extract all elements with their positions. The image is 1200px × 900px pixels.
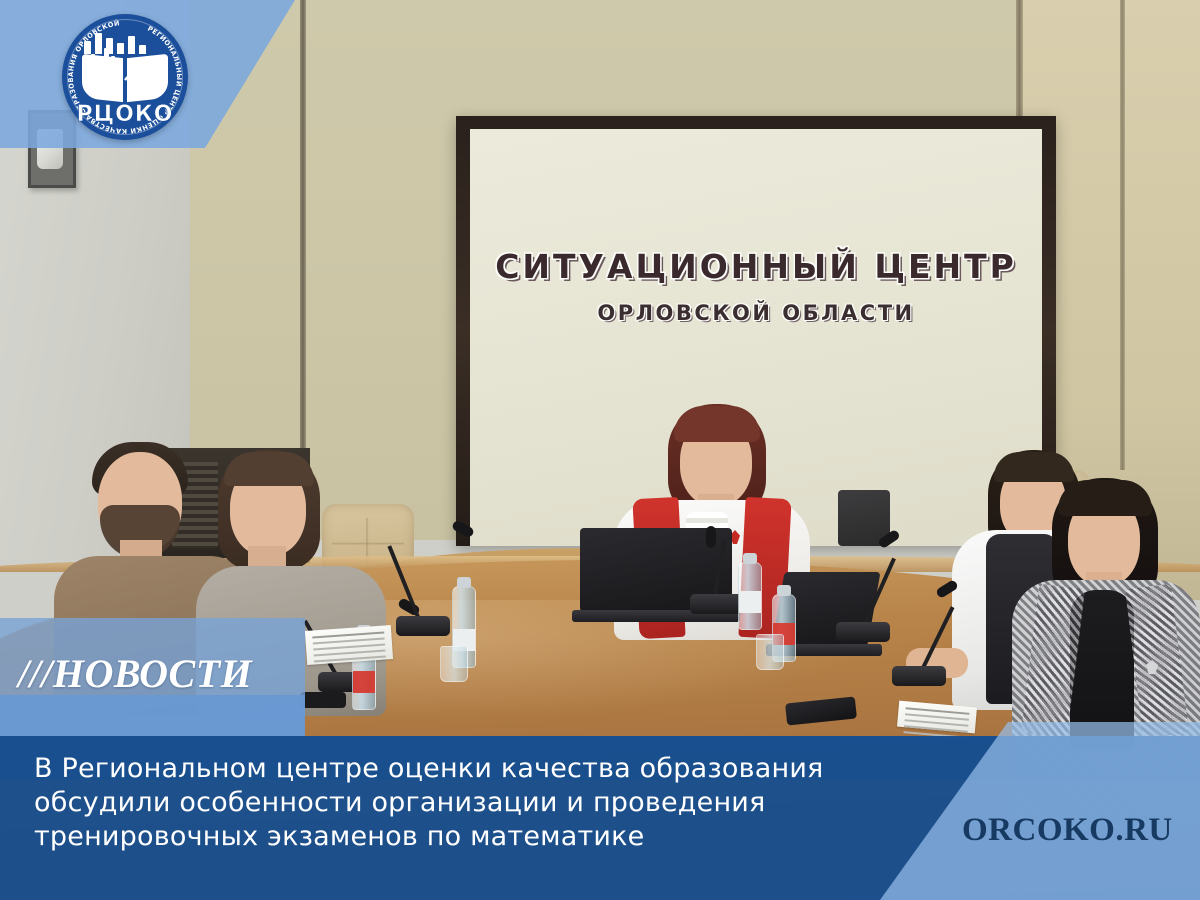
- rcoko-logo[interactable]: РЕГИОНАЛЬНЫЙ ЦЕНТР ОЦЕНКИ КАЧЕСТВА ОБРАЗ…: [62, 14, 188, 140]
- glass-right: [756, 634, 784, 670]
- screen-title-text: СИТУАЦИОННЫЙ ЦЕНТР: [470, 247, 1042, 286]
- news-headline: В Региональном центре оценки качества об…: [34, 752, 964, 854]
- news-card: СИТУАЦИОННЫЙ ЦЕНТР ОРЛОВСКОЙ ОБЛАСТИ: [0, 0, 1200, 900]
- watermark-url[interactable]: ORCOKO.RU: [962, 812, 1173, 849]
- screen-subtitle-text: ОРЛОВСКОЙ ОБЛАСТИ: [470, 301, 1042, 325]
- wall-seam-left: [300, 0, 306, 500]
- logo-bars-icon: [84, 36, 122, 76]
- news-band-lower: [0, 695, 305, 736]
- news-category-label: ///НОВОСТИ: [18, 650, 308, 697]
- papers-left: [305, 625, 393, 665]
- water-bottle-presenter: [738, 562, 762, 630]
- logo-wordmark: РЦОКО: [62, 102, 188, 127]
- logo-trend-line-icon: [124, 60, 156, 84]
- glass-left: [440, 646, 468, 682]
- wall-seam-far-right: [1120, 0, 1125, 470]
